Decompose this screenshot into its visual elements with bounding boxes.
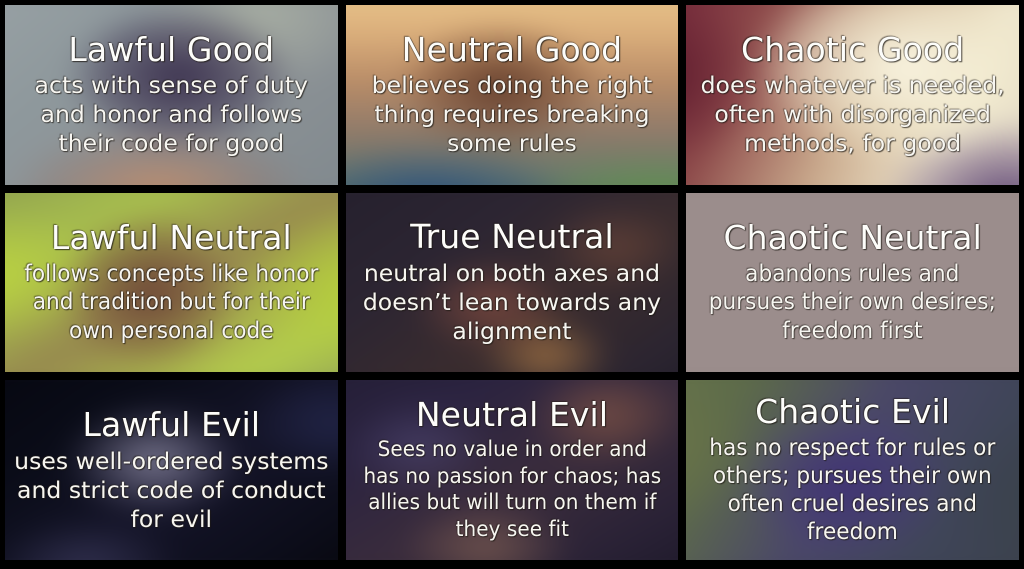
alignment-description: abandons rules and pursues their own des…: [701, 260, 1004, 345]
alignment-title: Chaotic Neutral: [691, 220, 1014, 257]
alignment-cell-neutral-good[interactable]: Neutral Good believes doing the right th…: [346, 5, 679, 185]
cell-text-block: Chaotic Evil has no respect for rules or…: [686, 394, 1019, 547]
alignment-title: Chaotic Evil: [691, 394, 1014, 431]
alignment-description: acts with sense of duty and honor and fo…: [10, 71, 333, 158]
alignment-cell-lawful-neutral[interactable]: Lawful Neutral follows concepts like hon…: [5, 193, 338, 373]
alignment-title: True Neutral: [351, 219, 674, 256]
alignment-description: Sees no value in order and has no passio…: [362, 437, 662, 543]
alignment-cell-chaotic-evil[interactable]: Chaotic Evil has no respect for rules or…: [686, 380, 1019, 560]
alignment-cell-true-neutral[interactable]: True Neutral neutral on both axes and do…: [346, 193, 679, 373]
alignment-cell-lawful-good[interactable]: Lawful Good acts with sense of duty and …: [5, 5, 338, 185]
alignment-description: follows concepts like honor and traditio…: [20, 260, 323, 345]
alignment-description: has no respect for rules or others; purs…: [701, 434, 1004, 547]
cell-text-block: Neutral Good believes doing the right th…: [346, 32, 679, 159]
alignment-cell-chaotic-neutral[interactable]: Chaotic Neutral abandons rules and pursu…: [686, 193, 1019, 373]
alignment-title: Lawful Evil: [10, 407, 333, 444]
alignment-cell-chaotic-good[interactable]: Chaotic Good does whatever is needed, of…: [686, 5, 1019, 185]
alignment-title: Neutral Good: [351, 32, 674, 69]
alignment-title: Neutral Evil: [351, 397, 674, 434]
alignment-title: Lawful Good: [10, 32, 333, 69]
cell-text-block: Lawful Good acts with sense of duty and …: [5, 32, 338, 159]
alignment-description: believes doing the right thing requires …: [351, 71, 674, 158]
alignment-description: neutral on both axes and doesn’t lean to…: [351, 259, 674, 346]
cell-text-block: Neutral Evil Sees no value in order and …: [346, 397, 679, 543]
cell-text-block: Lawful Evil uses well-ordered systems an…: [5, 407, 338, 534]
alignment-cell-neutral-evil[interactable]: Neutral Evil Sees no value in order and …: [346, 380, 679, 560]
alignment-chart-grid: Lawful Good acts with sense of duty and …: [0, 0, 1024, 569]
cell-text-block: Chaotic Neutral abandons rules and pursu…: [686, 220, 1019, 345]
alignment-description: uses well-ordered systems and strict cod…: [10, 447, 333, 534]
alignment-title: Chaotic Good: [691, 32, 1014, 69]
alignment-title: Lawful Neutral: [10, 220, 333, 257]
cell-text-block: Chaotic Good does whatever is needed, of…: [686, 32, 1019, 159]
alignment-description: does whatever is needed, often with diso…: [691, 71, 1014, 158]
alignment-cell-lawful-evil[interactable]: Lawful Evil uses well-ordered systems an…: [5, 380, 338, 560]
cell-text-block: True Neutral neutral on both axes and do…: [346, 219, 679, 346]
cell-text-block: Lawful Neutral follows concepts like hon…: [5, 220, 338, 345]
